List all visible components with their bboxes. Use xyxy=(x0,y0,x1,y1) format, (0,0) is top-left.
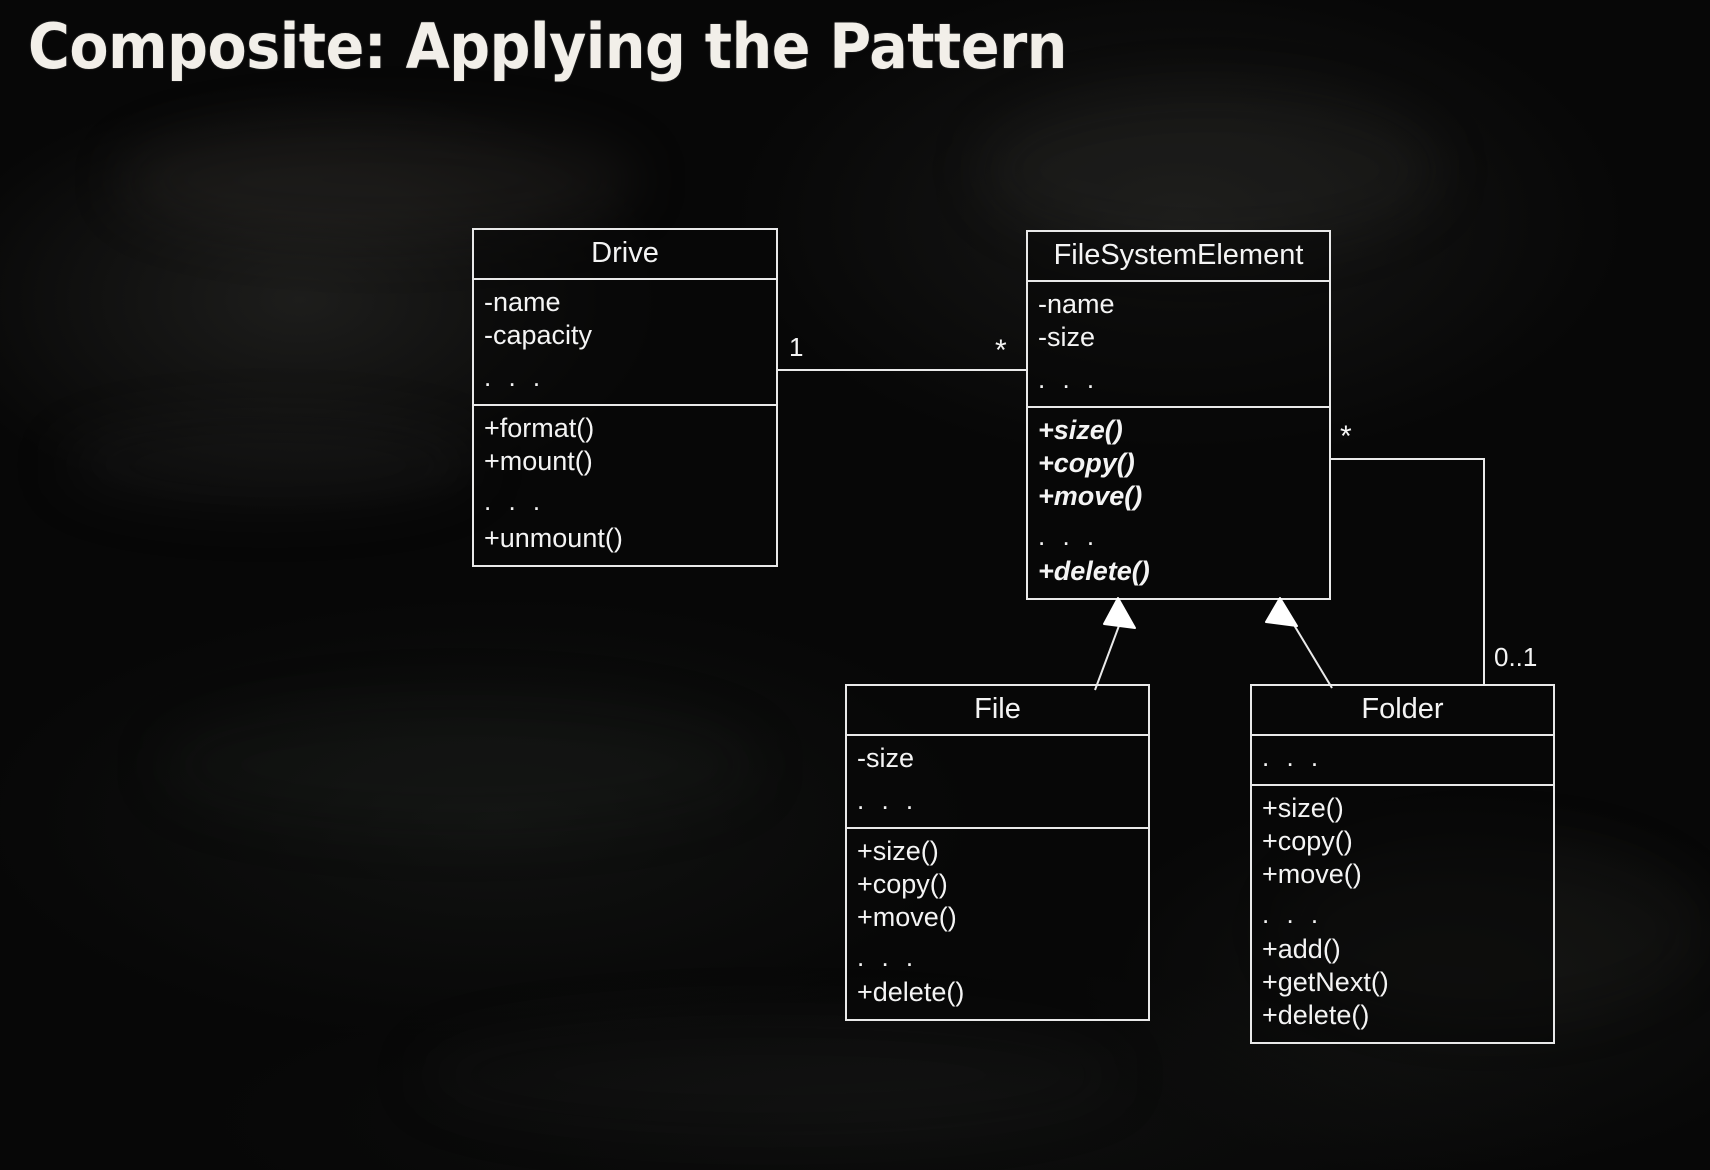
operation: +mount() xyxy=(484,445,776,478)
attribute: -name xyxy=(1038,288,1329,321)
operation: +move() xyxy=(1262,858,1553,891)
operation: +copy() xyxy=(1038,447,1329,480)
slide-canvas: Composite: Applying the Pattern Drive -n… xyxy=(0,0,1710,1170)
uml-class-filesystemelement[interactable]: FileSystemElement -name -size . . . +siz… xyxy=(1026,230,1331,600)
class-name-folder: Folder xyxy=(1252,686,1553,736)
association-line-drive-fse xyxy=(778,369,1028,371)
operation-ellipsis: . . . xyxy=(857,942,1148,974)
operation: +move() xyxy=(1038,480,1329,513)
uml-class-file[interactable]: File -size . . . +size() +copy() +move()… xyxy=(845,684,1150,1021)
operation: +format() xyxy=(484,412,776,445)
attribute: -capacity xyxy=(484,319,776,352)
uml-class-drive[interactable]: Drive -name -capacity . . . +format() +m… xyxy=(472,228,778,567)
class-operations-folder: +size() +copy() +move() . . . +add() +ge… xyxy=(1252,786,1553,1041)
background-texture xyxy=(120,120,640,240)
class-attributes-filesystemelement: -name -size . . . xyxy=(1028,282,1329,408)
class-attributes-file: -size . . . xyxy=(847,736,1148,829)
operation: +unmount() xyxy=(484,522,776,555)
association-line-fse-folder-horizontal xyxy=(1331,458,1485,460)
multiplicity-drive-1: 1 xyxy=(789,334,803,360)
multiplicity-folder-zero-one: 0..1 xyxy=(1494,644,1537,670)
association-line-fse-folder-vertical xyxy=(1483,458,1485,686)
class-name-file: File xyxy=(847,686,1148,736)
operation: +copy() xyxy=(1262,825,1553,858)
class-attributes-folder: . . . xyxy=(1252,736,1553,786)
operation: +getNext() xyxy=(1262,966,1553,999)
background-texture xyxy=(420,1020,1120,1130)
attribute: -size xyxy=(857,742,1148,775)
page-title: Composite: Applying the Pattern xyxy=(28,10,1067,83)
operation: +add() xyxy=(1262,933,1553,966)
operation: +copy() xyxy=(857,868,1148,901)
attribute: -name xyxy=(484,286,776,319)
class-operations-drive: +format() +mount() . . . +unmount() xyxy=(474,406,776,565)
class-attributes-drive: -name -capacity . . . xyxy=(474,280,776,406)
operation: +delete() xyxy=(1038,555,1329,588)
background-texture xyxy=(160,700,760,830)
background-texture xyxy=(60,420,480,510)
background-texture xyxy=(980,90,1440,250)
operation-ellipsis: . . . xyxy=(1262,899,1553,931)
operation: +delete() xyxy=(857,976,1148,1009)
class-operations-file: +size() +copy() +move() . . . +delete() xyxy=(847,829,1148,1018)
operation-ellipsis: . . . xyxy=(484,486,776,518)
class-name-drive: Drive xyxy=(474,230,776,280)
attribute-ellipsis: . . . xyxy=(484,362,776,394)
operation: +size() xyxy=(1038,414,1329,447)
operation-ellipsis: . . . xyxy=(1038,521,1329,553)
operation: +size() xyxy=(857,835,1148,868)
uml-class-folder[interactable]: Folder . . . +size() +copy() +move() . .… xyxy=(1250,684,1555,1044)
operation: +delete() xyxy=(1262,999,1553,1032)
class-operations-filesystemelement: +size() +copy() +move() . . . +delete() xyxy=(1028,408,1329,597)
attribute-ellipsis: . . . xyxy=(857,785,1148,817)
attribute-ellipsis: . . . xyxy=(1038,364,1329,396)
operation: +move() xyxy=(857,901,1148,934)
operation: +size() xyxy=(1262,792,1553,825)
attribute: -size xyxy=(1038,321,1329,354)
class-name-filesystemelement: FileSystemElement xyxy=(1028,232,1329,282)
multiplicity-fse-star: * xyxy=(995,336,1007,366)
attribute-ellipsis: . . . xyxy=(1262,742,1553,774)
multiplicity-fse-star-right: * xyxy=(1340,422,1352,452)
